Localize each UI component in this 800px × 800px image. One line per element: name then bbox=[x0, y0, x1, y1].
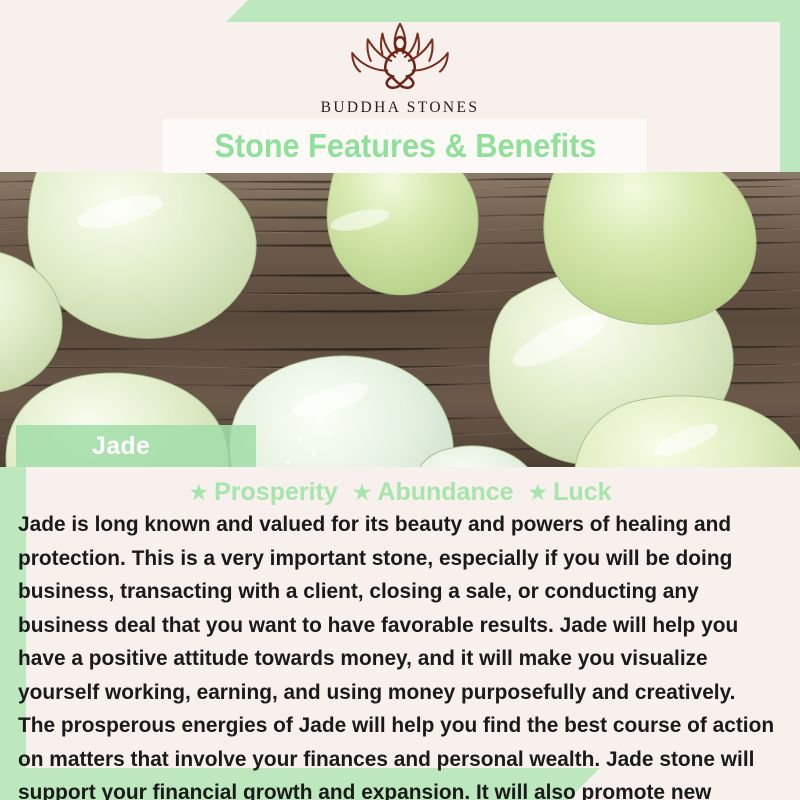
title-banner: Stone Features & Benefits bbox=[163, 119, 647, 173]
brand-name: BUDDHA STONES bbox=[0, 99, 800, 117]
stone-photo bbox=[0, 172, 800, 467]
stone-info-poster: BUDDHA STONES Stone Features & Benefits bbox=[0, 0, 800, 800]
stone-name-banner: Jade bbox=[16, 425, 256, 467]
star-icon: ★ bbox=[528, 479, 549, 506]
star-icon: ★ bbox=[352, 479, 373, 506]
keyword-prosperity: Prosperity bbox=[214, 478, 338, 507]
lotus-meditation-icon bbox=[335, 18, 465, 94]
stone-keywords: ★Prosperity★Abundance★Luck bbox=[0, 478, 800, 507]
page-title: Stone Features & Benefits bbox=[214, 127, 596, 165]
stone-description: Jade is long known and valued for its be… bbox=[18, 508, 774, 800]
keyword-luck: Luck bbox=[553, 478, 611, 507]
keyword-abundance: Abundance bbox=[377, 478, 513, 507]
stone-photo-image bbox=[0, 172, 800, 467]
stone-name: Jade bbox=[92, 432, 150, 461]
brand-header: BUDDHA STONES bbox=[0, 18, 800, 117]
star-icon: ★ bbox=[188, 479, 209, 506]
